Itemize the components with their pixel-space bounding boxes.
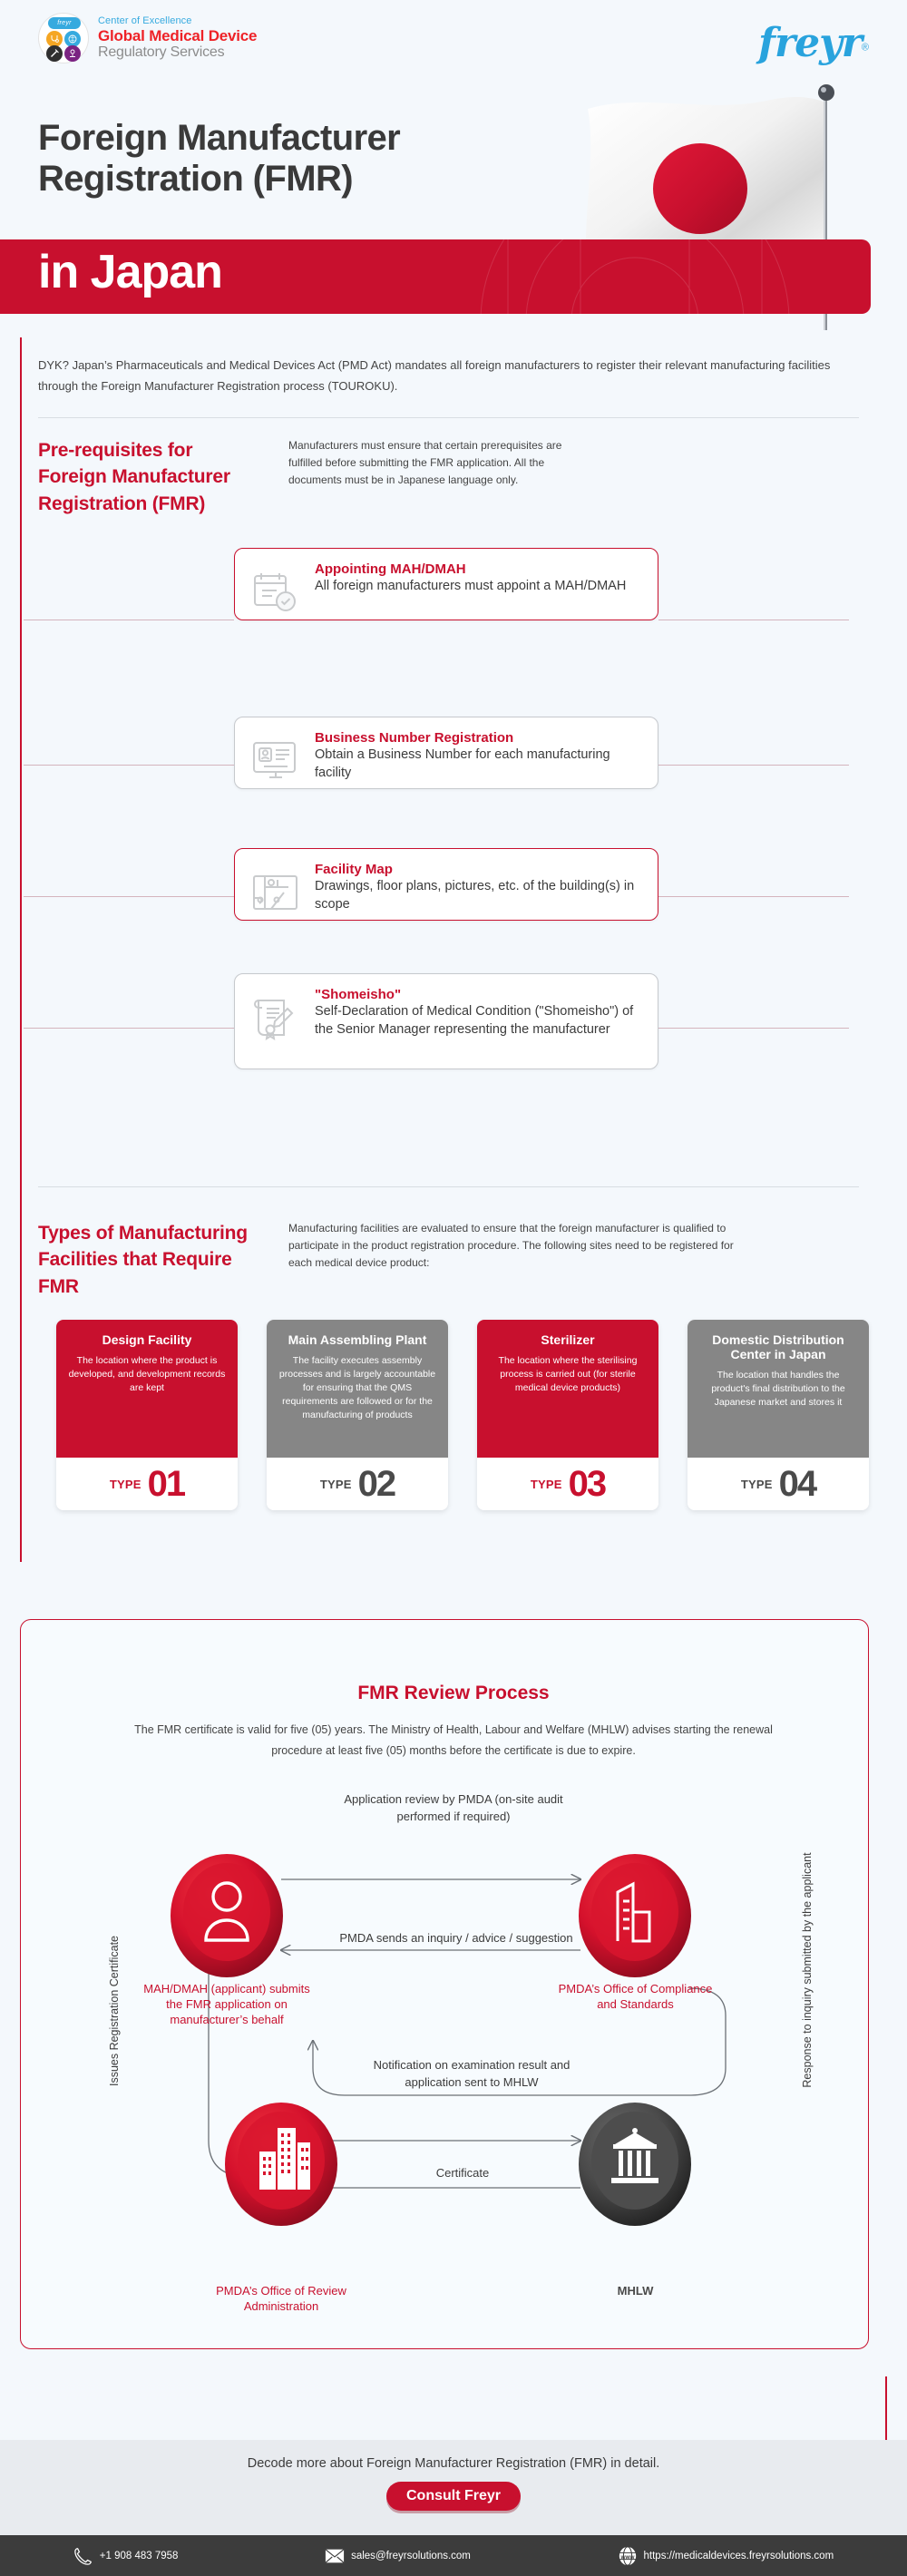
type-card-domestic-distribution-center[interactable]: Domestic Distribution Center in Japan Th… [688,1320,869,1510]
flow-edge-label-3: Response to inquiry submitted by the app… [801,1852,814,2088]
connector-line-3 [24,896,234,897]
page-title: Foreign Manufacturer Registration (FMR) [38,118,582,200]
connector-line-4r [658,1028,849,1029]
prereq-card-title: Business Number Registration [315,730,643,746]
type-card-title: Sterilizer [488,1332,648,1347]
types-divider [38,1186,859,1187]
id-card-monitor-icon [249,736,302,788]
prereq-card-facility-map[interactable]: Facility Map Drawings, floor plans, pict… [234,848,658,921]
type-card-desc: The location that handles the product's … [698,1369,858,1410]
logo-pill-label: freyr [48,17,81,29]
freyr-wordmark-text: freyr [758,20,862,66]
registered-mark: ® [862,43,869,54]
type-card-main-assembling-plant[interactable]: Main Assembling Plant The facility execu… [267,1320,448,1510]
footer: +1 908 483 7958 sales@freyrsolutions.com… [0,2535,907,2576]
type-card-design-facility[interactable]: Design Facility The location where the p… [56,1320,238,1510]
flow-edge-label-6: Issues Registration Certificate [108,1893,121,2129]
envelope-icon [325,2548,345,2564]
intro-divider [38,417,859,418]
footer-email-text: sales@freyrsolutions.com [351,2551,471,2561]
connector-line-3r [658,896,849,897]
type-label: TYPE [320,1478,352,1491]
types-heading: Types of Manufacturing Facilities that R… [38,1220,265,1300]
flow-edge-label-4: Notification on examination result and a… [345,2057,599,2092]
type-card-title: Domestic Distribution Center in Japan [698,1332,858,1361]
intro-paragraph: DYK? Japan’s Pharmaceuticals and Medical… [38,356,863,397]
type-card-desc: The facility executes assembly processes… [278,1354,437,1422]
footer-phone-text: +1 908 483 7958 [100,2551,179,2561]
brand-name-line2: Regulatory Services [98,44,257,61]
types-card-list: Design Facility The location where the p… [0,1320,907,1565]
title-line-2: Registration (FMR) [38,159,353,199]
types-description: Manufacturing facilities are evaluated t… [288,1220,760,1300]
flow-node-pmda-compliance[interactable] [579,1854,691,1977]
microscope-dot-icon [64,45,81,62]
flow-node-pmda-review[interactable] [225,2103,337,2226]
prereq-card-desc: Self-Declaration of Medical Condition ("… [315,1003,643,1039]
banner-text: in Japan [38,245,222,299]
prereq-card-desc: Obtain a Business Number for each manufa… [315,746,643,782]
right-rail [885,2376,887,2440]
type-card-desc: The location where the sterilising proce… [488,1354,648,1395]
prereq-section-header: Pre-requisites for Foreign Manufacturer … [38,437,588,517]
footer-website-text: https://medicaldevices.freyrsolutions.co… [644,2551,834,2561]
flow-edge-label-2: PMDA sends an inquiry / advice / suggest… [334,1930,579,1947]
freyr-wordmark: freyr® [758,20,869,66]
process-title: FMR Review Process [0,1683,907,1704]
prereq-card-shomeisho[interactable]: "Shomeisho" Self-Declaration of Medical … [234,973,658,1069]
cta-section: Decode more about Foreign Manufacturer R… [0,2440,907,2535]
prereq-card-desc: Drawings, floor plans, pictures, etc. of… [315,878,643,913]
flow-edge-label-1: Application review by PMDA (on-site audi… [327,1791,580,1826]
svg-text:www: www [619,2553,634,2560]
coe-tagline: Center of Excellence [98,15,257,26]
phone-icon [73,2546,93,2566]
document-check-icon [249,567,302,620]
flow-edge-label-5: Certificate [381,2165,544,2182]
type-number: 01 [148,1468,185,1500]
type-card-sterilizer[interactable]: Sterilizer The location where the steril… [477,1320,658,1510]
type-number: 04 [779,1468,816,1500]
connector-line-1r [658,620,849,620]
connector-line-4 [24,1028,234,1029]
prereq-card-title: Facility Map [315,862,643,877]
prereq-card-business-number-registration[interactable]: Business Number Registration Obtain a Bu… [234,717,658,789]
process-description: The FMR certificate is valid for five (0… [109,1720,798,1761]
connector-line-1 [24,620,234,620]
certificate-pen-icon [249,992,302,1045]
type-label: TYPE [741,1478,773,1491]
prereq-card-appointing-mah-dmah[interactable]: Appointing MAH/DMAH All foreign manufact… [234,548,658,620]
flow-node-label-pmda-review: PMDA’s Office of Review Administration [195,2284,367,2315]
footer-email[interactable]: sales@freyrsolutions.com [325,2548,471,2564]
brand-name-line1: Global Medical Device [98,27,257,44]
connector-line-2r [658,765,849,766]
type-number: 03 [569,1468,606,1500]
header: freyr Center of Excellence Global Medica… [0,0,907,345]
cta-text: Decode more about Foreign Manufacturer R… [0,2456,907,2471]
globe-www-icon: www [618,2546,638,2566]
type-label: TYPE [110,1478,141,1491]
title-banner: in Japan [0,239,871,314]
brand-logo: freyr Center of Excellence Global Medica… [38,13,257,63]
flow-node-mah[interactable] [171,1854,283,1977]
prereq-card-title: "Shomeisho" [315,987,643,1002]
prereq-heading: Pre-requisites for Foreign Manufacturer … [38,437,265,517]
footer-phone[interactable]: +1 908 483 7958 [73,2546,179,2566]
type-label: TYPE [531,1478,562,1491]
consult-freyr-button[interactable]: Consult Freyr [386,2482,521,2511]
coe-logo-icon: freyr [38,13,89,63]
title-line-1: Foreign Manufacturer [38,118,400,158]
type-number: 02 [358,1468,395,1500]
prereq-card-title: Appointing MAH/DMAH [315,561,626,577]
type-card-title: Design Facility [67,1332,227,1347]
prereq-description: Manufacturers must ensure that certain p… [288,437,588,517]
type-card-desc: The location where the product is develo… [67,1354,227,1395]
flow-node-label-mah: MAH/DMAH (applicant) submits the FMR app… [141,1982,313,2028]
flow-node-mhlw[interactable] [579,2103,691,2226]
footer-website[interactable]: www https://medicaldevices.freyrsolution… [618,2546,834,2566]
infographic-page: freyr Center of Excellence Global Medica… [0,0,907,2576]
prereq-card-desc: All foreign manufacturers must appoint a… [315,578,626,596]
prereq-card-list: Appointing MAH/DMAH All foreign manufact… [0,535,907,1188]
map-pin-icon [249,867,302,920]
types-section-header: Types of Manufacturing Facilities that R… [38,1220,760,1300]
flow-node-label-pmda-compliance: PMDA’s Office of Compliance and Standard… [551,1982,719,2013]
connector-line-2 [24,765,234,766]
syringe-dot-icon [46,45,63,62]
type-card-title: Main Assembling Plant [278,1332,437,1347]
flow-node-label-mhlw: MHLW [551,2284,719,2299]
